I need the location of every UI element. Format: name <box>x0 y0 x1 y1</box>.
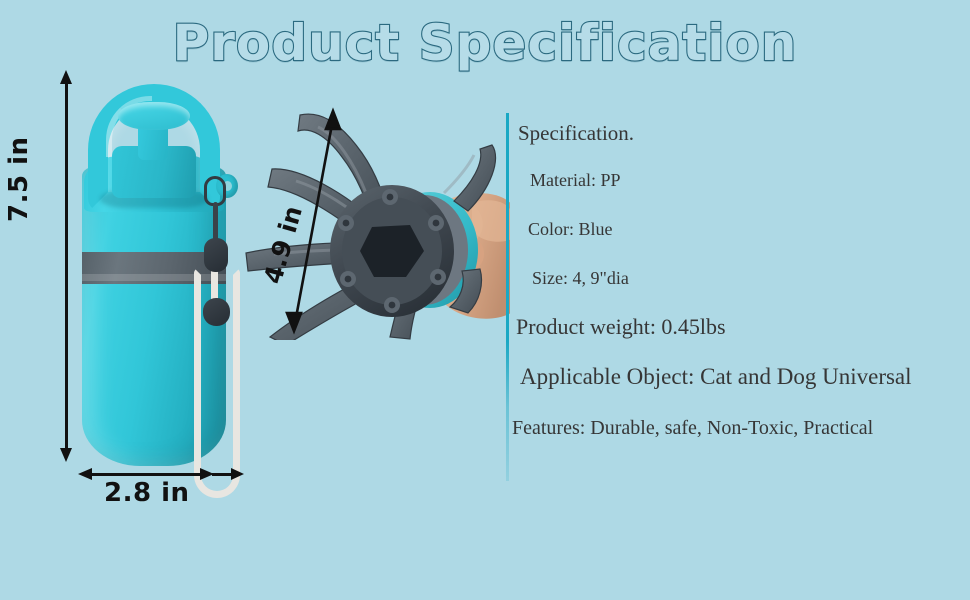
scooper-hub <box>330 185 454 317</box>
spec-weight: Product weight: 0.45lbs <box>516 314 726 340</box>
arrow-shaft <box>86 473 206 476</box>
plunger-knob <box>118 102 190 130</box>
specification-panel: Specification. Material: PP Color: Blue … <box>508 112 966 482</box>
lanyard-toggle-lower <box>203 298 230 326</box>
width-dimension-label: 2.8 in <box>104 478 190 508</box>
spec-heading: Specification. <box>518 121 634 146</box>
spec-material: Material: PP <box>530 170 621 191</box>
product-specification-banner: Product Specification 7.5 in <box>0 0 970 600</box>
height-dimension-arrow <box>58 70 74 462</box>
height-dimension-label: 7.5 in <box>4 136 34 222</box>
arrow-head-right-icon <box>231 468 244 480</box>
page-title: Product Specification <box>0 14 970 72</box>
arrow-shaft <box>65 78 68 454</box>
width-dimension-arrow-extension <box>212 466 244 482</box>
spec-color: Color: Blue <box>528 219 613 240</box>
lanyard-toggle-upper <box>204 238 228 272</box>
spec-applicable-object: Applicable Object: Cat and Dog Universal <box>520 364 912 390</box>
arrow-head-down-icon <box>60 448 72 462</box>
spec-features: Features: Durable, safe, Non-Toxic, Prac… <box>512 417 873 440</box>
spec-size: Size: 4, 9"dia <box>532 268 629 289</box>
